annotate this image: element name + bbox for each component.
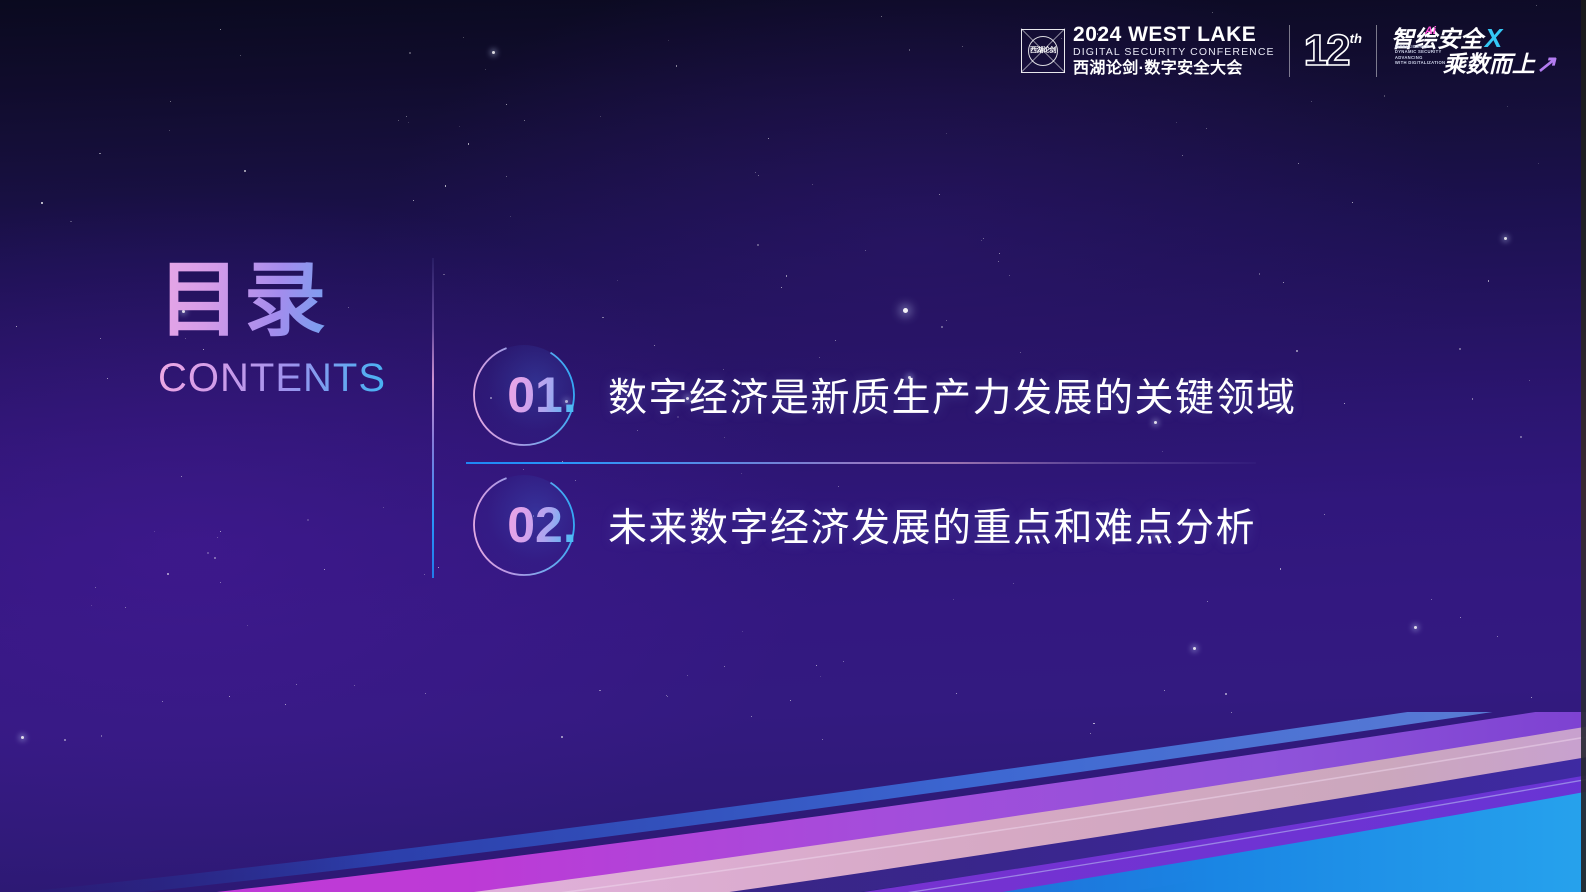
conference-subtitle-en: DIGITAL SECURITY CONFERENCE	[1073, 46, 1275, 59]
edition-suffix: th	[1350, 31, 1362, 46]
item-01-circle-icon: 01.	[462, 333, 586, 457]
logo-divider-right	[1376, 25, 1377, 77]
presentation-slide: 西湖论剑 2024 WEST LAKE DIGITAL SECURITY CON…	[0, 0, 1586, 892]
conference-title-en: 2024 WEST LAKE	[1073, 24, 1275, 46]
vertical-separator	[432, 258, 434, 578]
page-title-cn: 目录	[158, 258, 408, 344]
emblem-label: 西湖论剑	[1030, 47, 1056, 55]
conference-logo-bar: 西湖论剑 2024 WEST LAKE DIGITAL SECURITY CON…	[1021, 20, 1556, 82]
logo-divider-left	[1289, 25, 1290, 77]
slogan-x-mark: X	[1485, 26, 1502, 51]
item-02-number: 02.	[507, 496, 577, 554]
contents-title-block: 目录 CONTENTS	[158, 258, 408, 400]
conference-title-cn: 西湖论剑·数字安全大会	[1073, 59, 1275, 78]
contents-item-01[interactable]: 01. 数字经济是新质生产力发展的关键领域	[462, 330, 1297, 460]
window-edge-sliver	[1581, 0, 1586, 892]
item-01-text: 数字经济是新质生产力发展的关键领域	[608, 367, 1297, 423]
bottom-swoosh-decoration	[0, 712, 1586, 892]
contents-item-02[interactable]: 02. 未来数字经济发展的重点和难点分析	[462, 460, 1256, 590]
slogan-english-subtext: INTELLIGENCE DYNAMIC SECURITY ADVANCING …	[1395, 44, 1445, 66]
slogan-en-line4: WITH DIGITALIZATION	[1395, 60, 1445, 65]
edition-badge: 12 th	[1304, 29, 1362, 73]
slogan-arrow-icon: ↗	[1536, 52, 1556, 77]
item-01-number: 01.	[507, 366, 577, 424]
item-02-circle-icon: 02.	[462, 463, 586, 587]
item-02-text: 未来数字经济发展的重点和难点分析	[608, 497, 1256, 553]
page-title-en: CONTENTS	[158, 356, 408, 400]
conference-title-lockup: 2024 WEST LAKE DIGITAL SECURITY CONFEREN…	[1073, 24, 1275, 78]
slogan-ai-mark: Ai	[1425, 19, 1436, 44]
west-lake-emblem-icon: 西湖论剑	[1021, 29, 1065, 73]
conference-slogan: 智绘安全 Ai X 乘数而上 ↗ INTELLIGENCE DYNAMIC SE…	[1391, 22, 1556, 80]
slogan-line2: 乘数而上	[1443, 52, 1535, 77]
edition-number: 12	[1304, 29, 1349, 73]
